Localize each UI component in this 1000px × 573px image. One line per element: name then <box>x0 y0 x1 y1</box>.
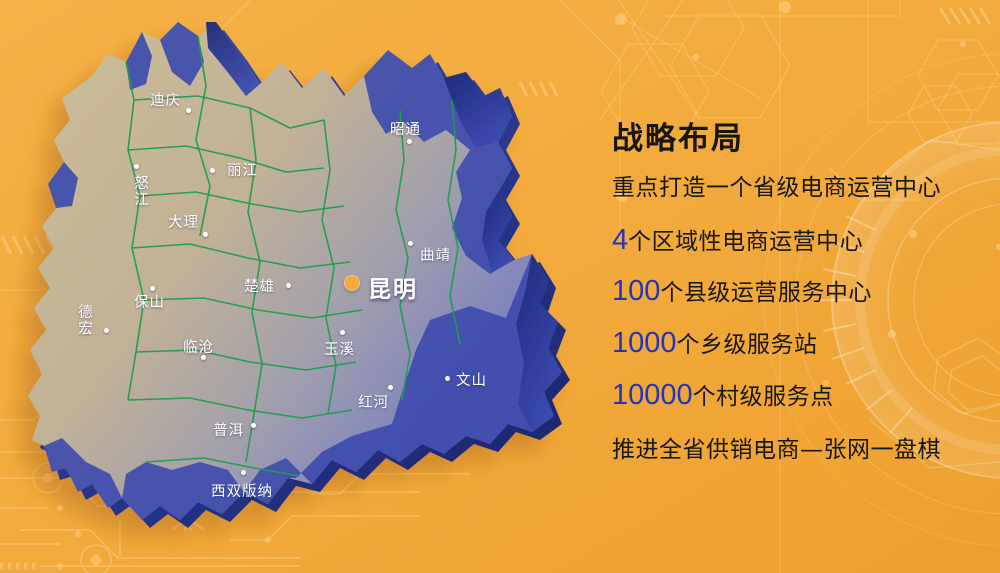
city-label-dehong: 德宏 <box>74 304 95 337</box>
city-label-dali: 大理 <box>168 211 199 232</box>
city-dot <box>407 139 412 144</box>
strategy-line-4: 10000个村级服务点 <box>612 377 834 412</box>
city-label-baoshan: 保山 <box>134 291 165 312</box>
strategy-line-0: 重点打造一个省级电商运营中心 <box>612 168 941 203</box>
city-label-wenshan: 文山 <box>456 369 487 390</box>
city-label-yuxi: 玉溪 <box>324 338 355 359</box>
strategy-line-2: 100个县级运营服务中心 <box>612 273 872 308</box>
map-svg <box>0 0 620 573</box>
city-label-zhaotong: 昭通 <box>390 118 421 139</box>
city-label-puer: 普洱 <box>213 419 244 440</box>
city-dot <box>186 108 191 113</box>
strategy-text-2: 个县级运营服务中心 <box>660 280 872 306</box>
city-dot <box>203 232 208 237</box>
page-title: 战略布局 <box>612 113 744 158</box>
city-dot <box>210 168 215 173</box>
city-dot <box>241 470 246 475</box>
city-dot <box>340 330 345 335</box>
city-dot <box>251 423 256 428</box>
yunnan-province-map[interactable]: 昆明 迪庆 昭通 丽江 怒江 大理 曲靖 楚雄 保山 德宏 玉溪 临沧 文山 红… <box>0 0 620 573</box>
strategy-text-panel: 战略布局 重点打造一个省级电商运营中心 4个区域性电商运营中心 100个县级运营… <box>612 0 1000 573</box>
city-dot <box>388 385 393 390</box>
city-label-chuxiong: 楚雄 <box>244 275 275 296</box>
poster-canvas: 昆明 迪庆 昭通 丽江 怒江 大理 曲靖 楚雄 保山 德宏 玉溪 临沧 文山 红… <box>0 0 1000 573</box>
city-label-lijiang: 丽江 <box>227 159 258 180</box>
city-label-diqing: 迪庆 <box>150 89 181 110</box>
city-dot <box>408 241 413 246</box>
strategy-text-1: 个区域性电商运营中心 <box>628 229 863 255</box>
city-dot <box>104 328 109 333</box>
city-label-honghe: 红河 <box>358 391 389 412</box>
strategy-line-1: 4个区域性电商运营中心 <box>612 222 863 257</box>
strategy-text-0: 重点打造一个省级电商运营中心 <box>612 175 941 201</box>
city-label-xishuangbanna: 西双版纳 <box>211 480 273 501</box>
capital-label-kunming: 昆明 <box>368 270 418 304</box>
city-label-nujiang: 怒江 <box>130 175 151 208</box>
strategy-number-2: 100 <box>612 275 660 307</box>
city-label-lincang: 临沧 <box>183 336 214 357</box>
strategy-text-3: 个乡级服务站 <box>677 332 818 358</box>
strategy-line-5: 推进全省供销电商—张网一盘棋 <box>612 430 941 465</box>
strategy-number-1: 4 <box>612 224 628 256</box>
city-label-qujing: 曲靖 <box>420 244 451 265</box>
strategy-text-4: 个村级服务点 <box>693 384 834 410</box>
capital-marker-dot <box>345 276 359 290</box>
strategy-number-3: 1000 <box>612 327 677 359</box>
city-dot <box>445 376 450 381</box>
city-dot <box>286 283 291 288</box>
strategy-number-4: 10000 <box>612 379 693 411</box>
city-dot <box>134 164 139 169</box>
strategy-line-3: 1000个乡级服务站 <box>612 325 818 360</box>
strategy-text-5: 推进全省供销电商—张网一盘棋 <box>612 437 941 463</box>
